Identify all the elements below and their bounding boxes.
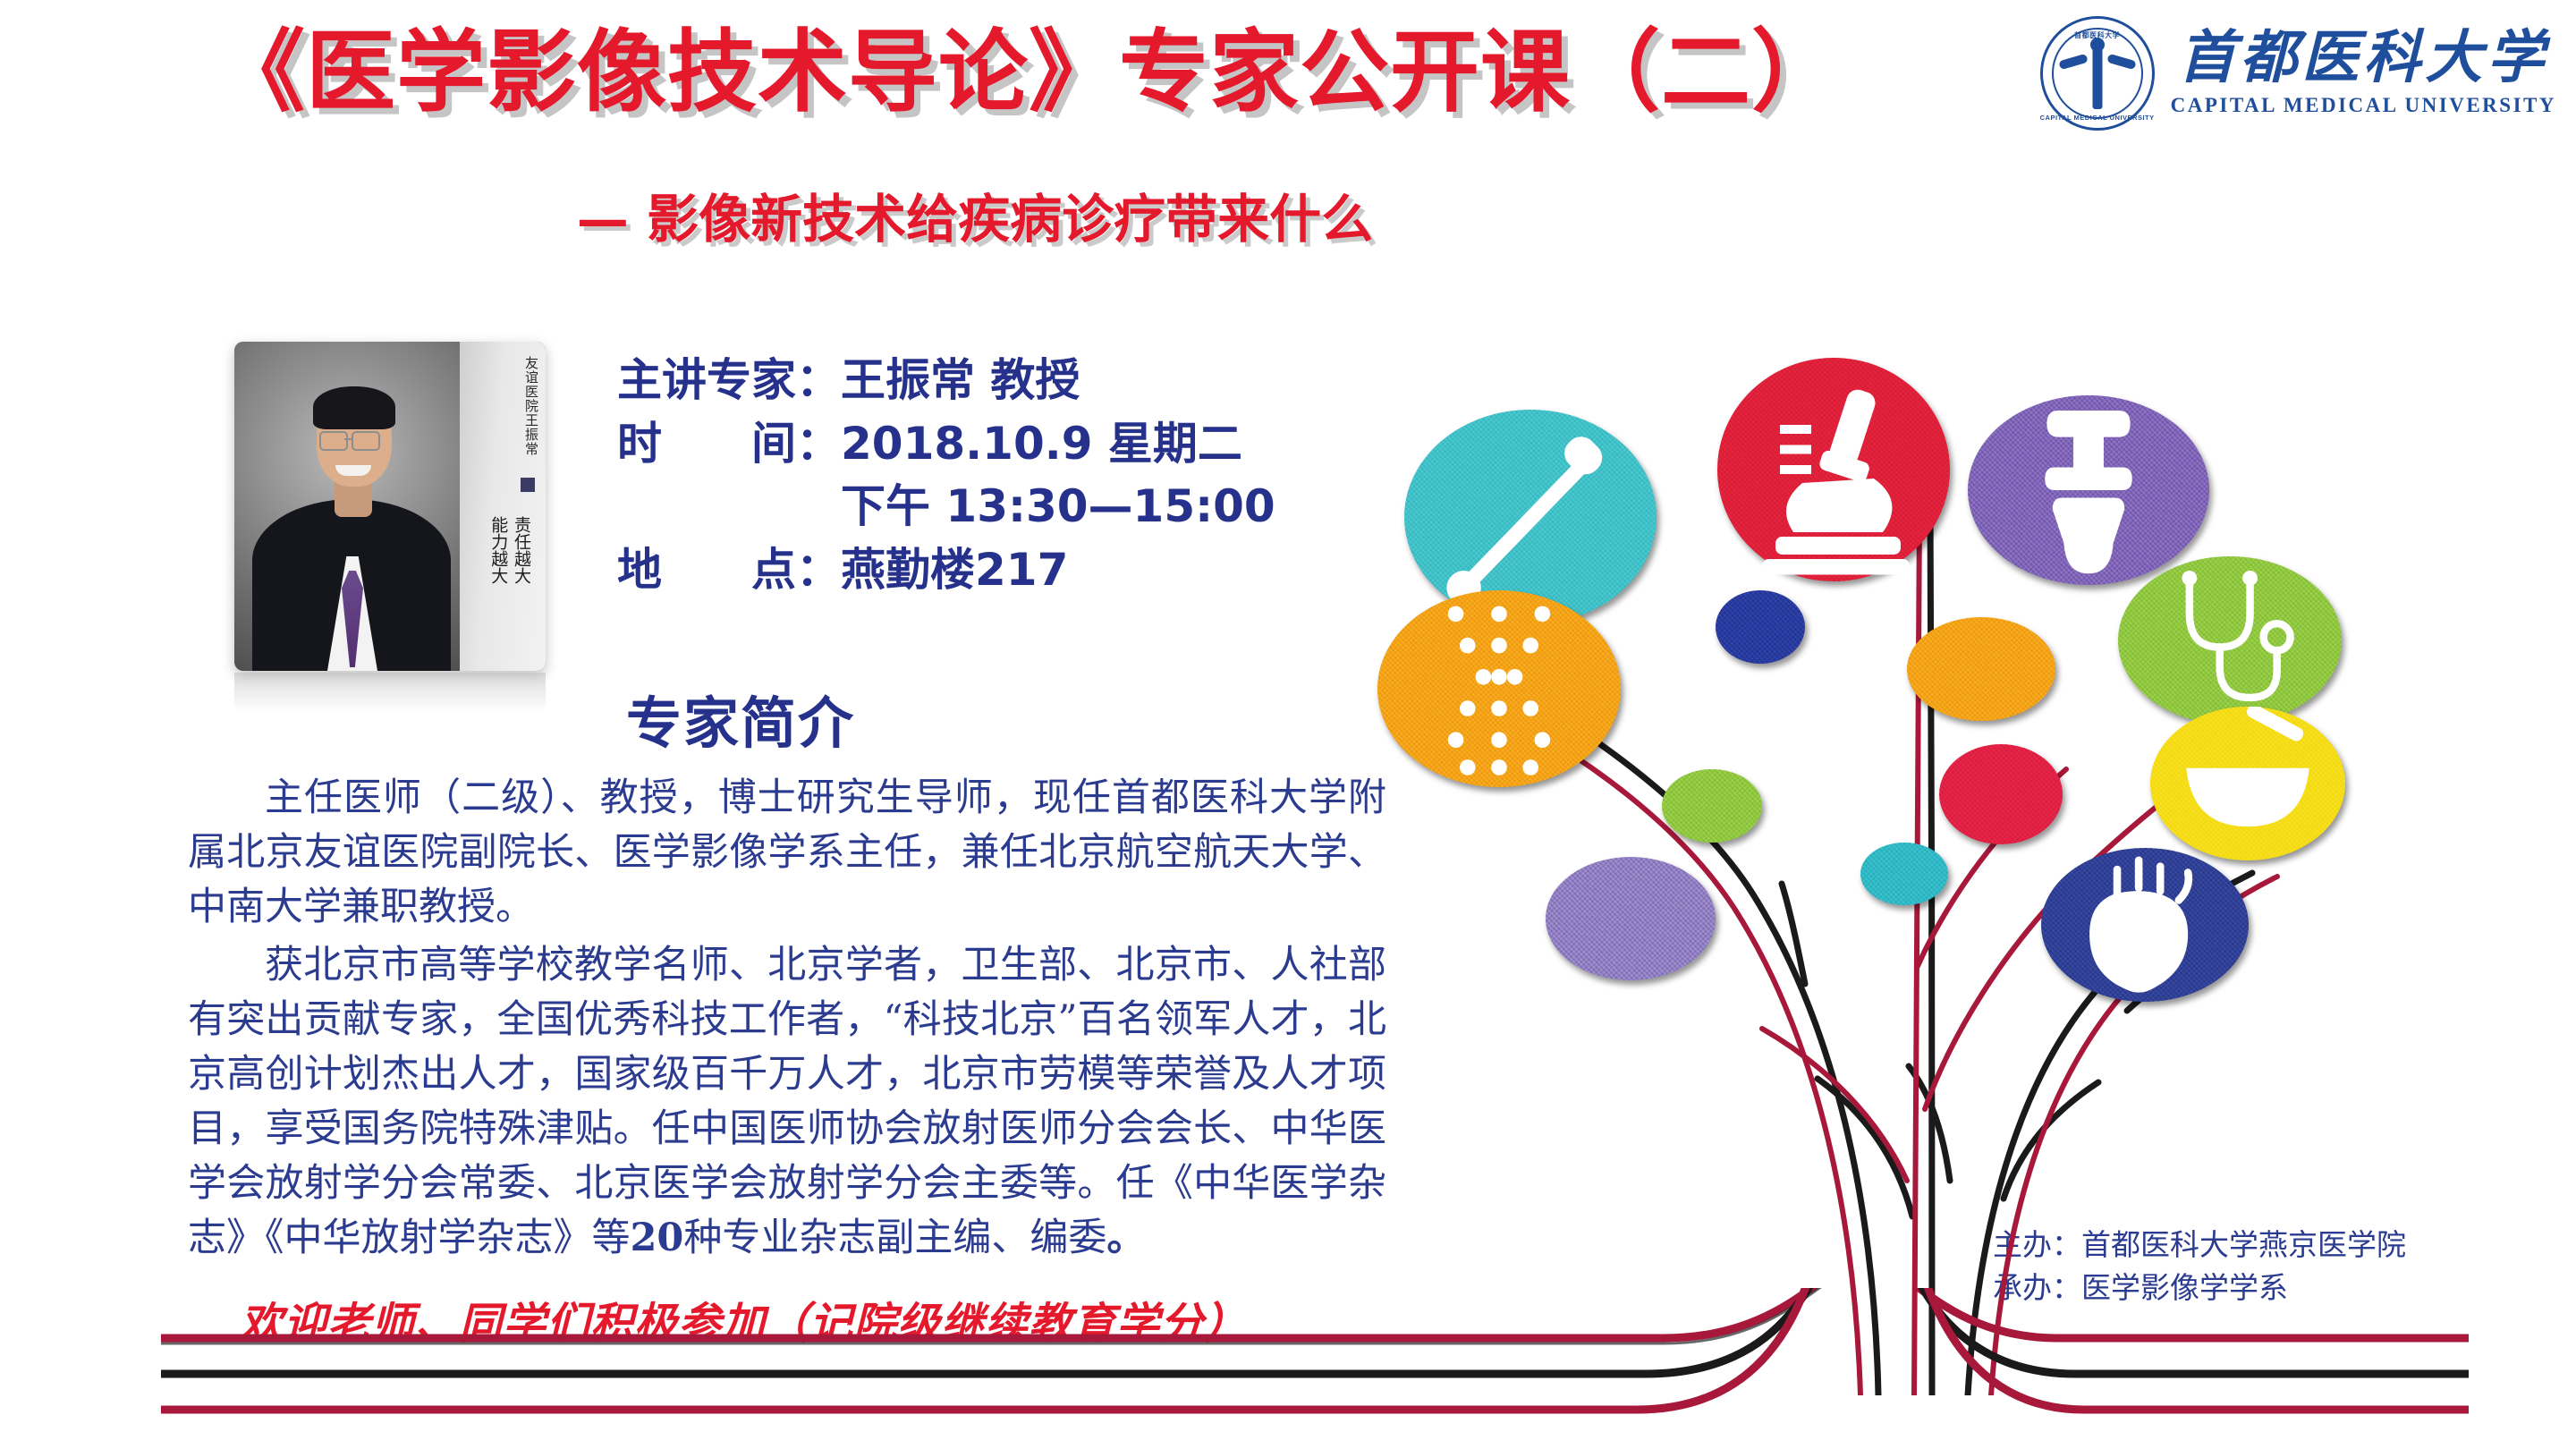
bio-paragraph-1: 主任医师（二级）、教授，博士研究生导师，现任首都医科大学附属北京友谊医院副院长、… <box>188 771 1386 935</box>
logo-wordmark: 首都医科大学 CAPITAL MEDICAL UNIVERSITY <box>2171 30 2556 117</box>
event-place-row: 地 点：燕勤楼217 <box>617 540 1275 600</box>
emblem-head <box>2090 38 2105 52</box>
event-time-row-2: 下午 13:30—15:00 <box>617 477 1275 537</box>
portrait-scroll-caption: 友谊医院王振常 <box>515 356 538 456</box>
event-time-row: 时 间：2018.10.9 星期二 <box>617 414 1275 474</box>
leaf-green-small <box>1662 769 1762 843</box>
portrait-smile <box>335 465 371 476</box>
mortar-pestle-icon <box>2150 707 2345 860</box>
page-subtitle: — 影像新技术给疾病诊疗带来什么 <box>0 192 1950 247</box>
bio-paragraph-2-a: 获北京市高等学校教学名师、北京学者，卫生部、北京市、人社部有突出贡献专家，全国优… <box>188 943 1386 1260</box>
bio-paragraph-2-end: 。 <box>1106 1216 1145 1260</box>
heart-anatomy-icon <box>2041 848 2249 1002</box>
dna-dots-icon <box>1377 590 1621 787</box>
event-info-block: 主讲专家：王振常 教授 时 间：2018.10.9 星期二 下午 13:30—1… <box>617 351 1275 603</box>
logo-name-cn: 首都医科大学 <box>2178 30 2548 87</box>
place-value: 燕勤楼217 <box>841 544 1068 596</box>
bio-paragraph-2-b: 种专业杂志副主编、编委 <box>683 1216 1106 1260</box>
time-value: 2018.10.9 星期二 <box>841 418 1242 470</box>
portrait-glasses-left <box>319 431 348 451</box>
leaf-green-stethoscope <box>2118 556 2342 724</box>
time-label: 时 间： <box>617 414 841 474</box>
bio-heading: 专家简介 <box>626 678 855 758</box>
university-emblem-icon: 首都医科大学 CAPITAL MEDICAL UNIVERSITY <box>2040 16 2155 131</box>
emblem-arc-bottom-text: CAPITAL MEDICAL UNIVERSITY <box>2040 114 2155 122</box>
speaker-value: 王振常 教授 <box>841 354 1080 406</box>
microscope-icon <box>1717 358 1950 581</box>
bio-journal-count: 20 <box>631 1216 684 1260</box>
stethoscope-icon <box>2118 556 2342 724</box>
poster-canvas: 《医学影像技术导论》专家公开课（二） — 影像新技术给疾病诊疗带来什么 首都医科… <box>0 0 2576 1449</box>
portrait-glasses-bridge <box>344 438 352 440</box>
speaker-portrait: 友谊医院王振常 责任越大 能力越大 <box>234 342 546 671</box>
event-speaker-row: 主讲专家：王振常 教授 <box>617 351 1275 411</box>
base-lines-svg <box>0 1288 2576 1449</box>
leaf-teal-small <box>1860 843 1948 905</box>
portrait-hair <box>313 386 395 429</box>
university-logo: 首都医科大学 CAPITAL MEDICAL UNIVERSITY 首都医科大学… <box>2040 16 2556 131</box>
speaker-label: 主讲专家： <box>617 351 841 411</box>
portrait-motto-line-1: 责任越大 <box>510 516 531 584</box>
bio-paragraph-2: 获北京市高等学校教学名师、北京学者，卫生部、北京市、人社部有突出贡献专家，全国优… <box>188 938 1386 1266</box>
time-value-2: 下午 13:30—15:00 <box>841 480 1275 532</box>
portrait-scroll-stamp <box>521 478 535 492</box>
portrait-motto-line-2: 能力越大 <box>487 516 509 584</box>
leaf-blue-small <box>1716 590 1805 664</box>
place-label: 地 点： <box>617 540 841 600</box>
leaf-red-microscope <box>1717 358 1950 581</box>
leaf-purple-low <box>1546 857 1716 980</box>
tree-base-lines <box>0 1288 2576 1449</box>
portrait-reflection <box>234 673 546 712</box>
logo-name-en: CAPITAL MEDICAL UNIVERSITY <box>2171 94 2556 117</box>
medical-tree-graphic <box>1377 322 2576 1395</box>
leaf-yellow-mortar <box>2150 707 2345 860</box>
bio-body: 主任医师（二级）、教授，博士研究生导师，现任首都医科大学附属北京友谊医院副院长、… <box>188 771 1386 1269</box>
leaf-navy-heart <box>2041 848 2249 1002</box>
leaf-orange-mid <box>1907 617 2055 721</box>
portrait-scroll-motto: 责任越大 能力越大 <box>487 516 532 584</box>
leaf-orange-dna <box>1377 590 1621 787</box>
page-title: 《医学影像技术导论》专家公开课（二） <box>0 25 2057 119</box>
leaf-crimson-mid <box>1939 744 2063 844</box>
portrait-glasses-right <box>352 431 380 451</box>
